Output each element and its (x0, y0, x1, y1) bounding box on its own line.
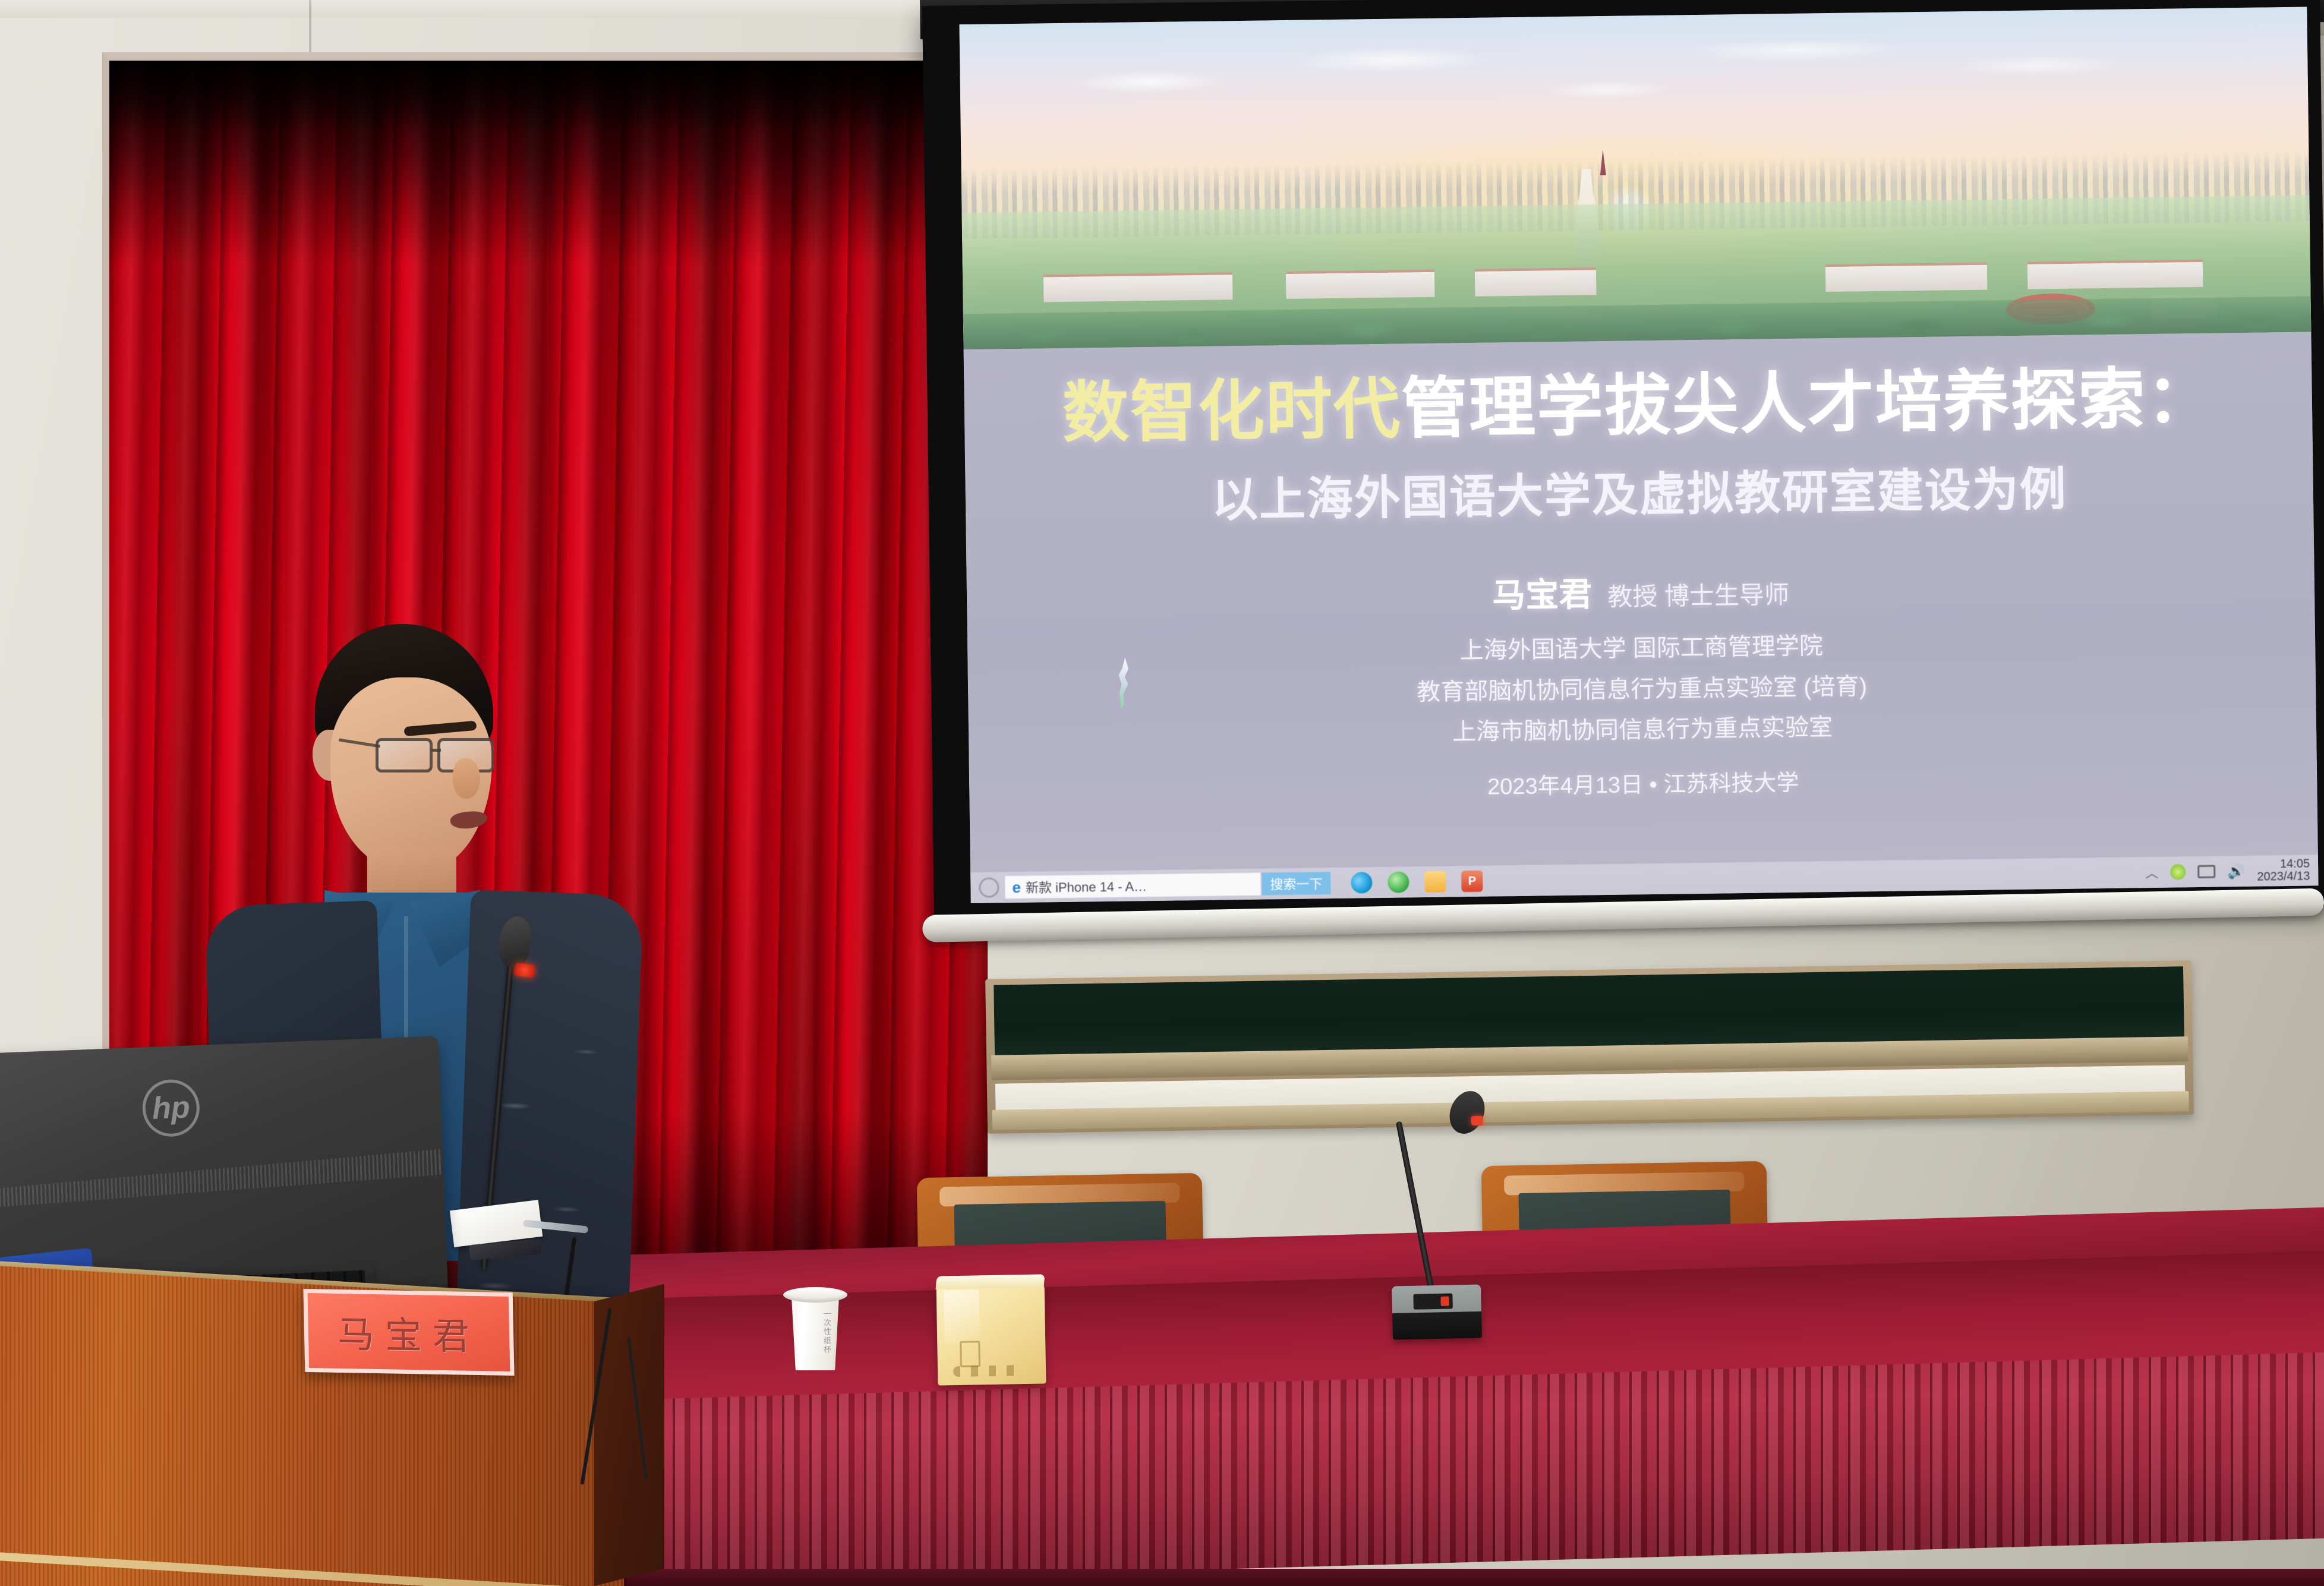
tissue-pack-icons (953, 1365, 1024, 1377)
ceiling-strip (0, 0, 963, 18)
slide-surface: 数智化时代管理学拔尖人才培养探索： 以上海外国语大学及虚拟教研室建设为例 马宝君… (959, 7, 2318, 903)
photo-campus-grounds (962, 196, 2312, 349)
microphone-control-panel[interactable] (1413, 1293, 1453, 1309)
lecture-hall-scene: 数智化时代管理学拔尖人才培养探索： 以上海外国语大学及虚拟教研室建设为例 马宝君… (0, 0, 2324, 1586)
taskbar-pinned-icons: P (1351, 871, 1483, 894)
photo-building (1286, 270, 1434, 299)
speaker-nameplate: 马宝君 (303, 1289, 514, 1376)
glasses-lens-left (376, 738, 433, 772)
file-explorer-icon[interactable] (1424, 871, 1446, 893)
taskbar-search-box[interactable]: e 新款 iPhone 14 - A… (1005, 873, 1260, 899)
clock-date: 2023/4/13 (2257, 870, 2310, 884)
wechat-icon[interactable] (1388, 871, 1409, 893)
hp-logo-icon: hp (141, 1079, 201, 1138)
slide-title-highlight: 数智化时代 (1062, 372, 1402, 450)
edge-browser-icon[interactable] (1351, 872, 1372, 893)
edge-icon: e (1012, 878, 1021, 896)
affiliation-list: 上海外国语大学 国际工商管理学院 教育部脑机协同信息行为重点实验室 (培育) 上… (967, 619, 2317, 759)
presenter-line: 马宝君教授 博士生导师 (967, 558, 2315, 624)
slide-title-rest: 管理学拔尖人才培养探索： (1401, 361, 2215, 446)
slide-text-block: 数智化时代管理学拔尖人才培养探索： 以上海外国语大学及虚拟教研室建设为例 马宝君… (964, 332, 2319, 903)
paper-cup[interactable] (788, 1292, 843, 1370)
podium-microphone-led (514, 963, 536, 979)
speaker-nose (453, 758, 480, 799)
taskbar-clock[interactable]: 14:05 2023/4/13 (2257, 858, 2310, 884)
tissue-pack[interactable] (936, 1282, 1046, 1385)
chalkboard (985, 960, 2194, 1134)
table-microphone-base[interactable] (1392, 1284, 1482, 1339)
projection-screen[interactable]: 数智化时代管理学拔尖人才培养探索： 以上海外国语大学及虚拟教研室建设为例 马宝君… (922, 0, 2324, 924)
campus-photo (959, 7, 2311, 349)
display-icon[interactable] (2197, 865, 2215, 878)
photo-building (2027, 260, 2203, 289)
taskbar-search-text: 新款 iPhone 14 - A… (1026, 876, 1147, 897)
volume-icon[interactable]: 🔊 (2227, 862, 2245, 879)
taskbar-search-button[interactable]: 搜索一下 (1262, 872, 1331, 896)
photo-building (1825, 263, 1987, 292)
chevron-up-icon[interactable]: ︿ (2145, 863, 2158, 882)
table-microphone-led (1471, 1116, 1483, 1125)
paper-cup-print: 一次性纸杯 (821, 1310, 833, 1354)
paper-cup-rim (783, 1287, 847, 1303)
slide-subtitle: 以上海外国语大学及虚拟教研室建设为例 (965, 449, 2313, 533)
nameplate-text: 马宝君 (337, 1304, 481, 1360)
tissue-pack-top (936, 1274, 1045, 1289)
clock-time: 14:05 (2280, 857, 2310, 871)
presenter-name: 马宝君 (1492, 575, 1593, 614)
photo-building (1475, 267, 1597, 297)
speaker-glasses (376, 734, 498, 776)
taskbar-tray: ︿ 🔊 14:05 2023/4/13 (2145, 858, 2310, 885)
floor-strip (618, 1569, 2324, 1586)
slide-title: 数智化时代管理学拔尖人才培养探索： (964, 357, 2313, 456)
presenter-role: 教授 博士生导师 (1607, 581, 1789, 611)
tissue-pack-logo (960, 1341, 980, 1367)
tray-status-icon[interactable] (2170, 864, 2186, 879)
powerpoint-icon[interactable]: P (1461, 871, 1483, 892)
start-search-icon[interactable] (979, 877, 999, 897)
alcove-shade (109, 61, 988, 132)
photo-building (1043, 272, 1232, 302)
venue-date-line: 2023年4月13日 • 江苏科技大学 (969, 758, 2317, 808)
glasses-bridge (431, 749, 441, 752)
